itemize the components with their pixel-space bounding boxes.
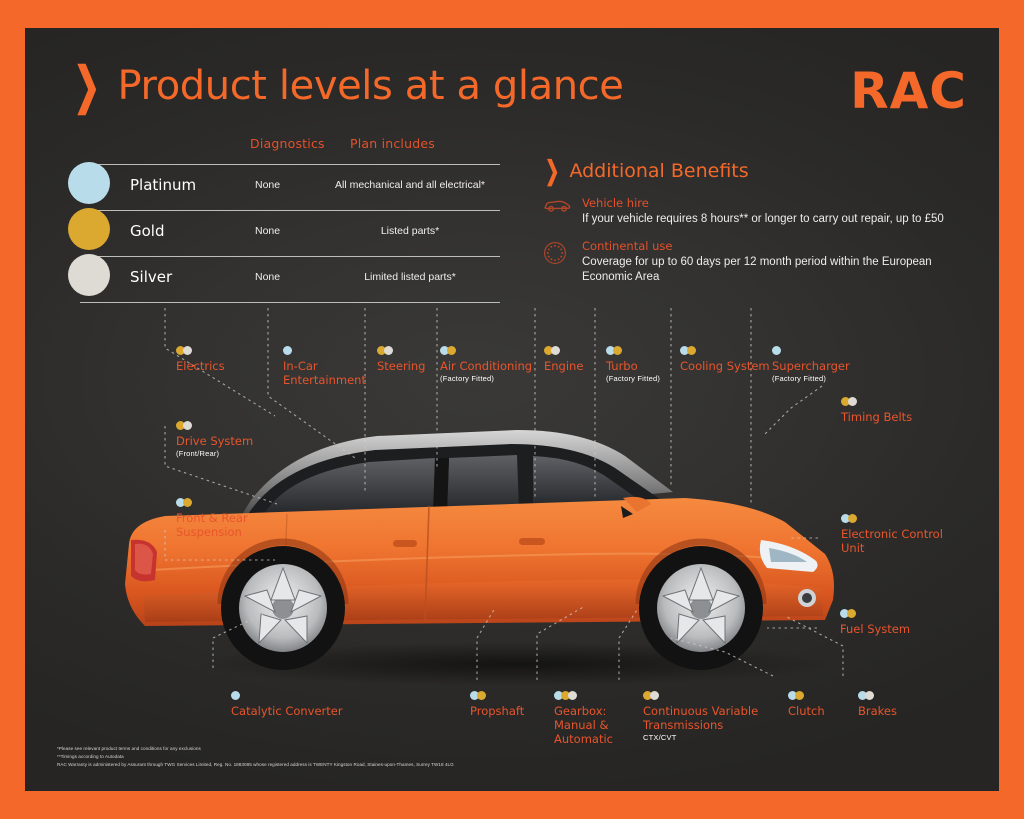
tier-name: Platinum	[130, 176, 196, 194]
callout-label: Cooling System	[680, 359, 770, 373]
benefit-title: Vehicle hire	[582, 196, 944, 210]
tier-pip-gold	[183, 498, 192, 507]
benefit-title: Continental use	[582, 239, 973, 253]
tier-pips	[840, 609, 910, 618]
column-header-diagnostics: Diagnostics	[250, 136, 325, 151]
callout-label: Brakes	[858, 704, 897, 718]
chevron-right-icon: ❯	[545, 158, 559, 184]
tier-pip-silver	[650, 691, 659, 700]
callout-propshaft[interactable]: Propshaft	[470, 691, 524, 718]
tier-pips	[176, 498, 248, 507]
tier-pips	[283, 346, 366, 355]
callout-front-rear-suspension[interactable]: Front & Rear Suspension	[176, 498, 248, 539]
tier-pip-silver	[568, 691, 577, 700]
benefit-description: If your vehicle requires 8 hours** or lo…	[582, 212, 944, 228]
tier-pips	[176, 346, 225, 355]
poster-frame: ❯ Product levels at a glance RAC Diagnos…	[0, 0, 1024, 819]
benefit-item-continental-use: Continental use Coverage for up to 60 da…	[543, 239, 973, 286]
rac-logo: RAC	[850, 66, 967, 116]
callout-label: Drive System	[176, 434, 253, 448]
tier-pips	[858, 691, 897, 700]
additional-benefits-section: ❯ Additional Benefits Vehicle hire If yo…	[543, 160, 973, 297]
callout-label: Continuous Variable Transmissions	[643, 704, 758, 732]
tier-pips	[841, 514, 943, 523]
tier-pips	[470, 691, 524, 700]
callout-label: Air Conditioning	[440, 359, 532, 373]
benefits-heading: ❯ Additional Benefits	[543, 160, 973, 182]
callout-label: Turbo	[606, 359, 660, 373]
tier-pip-platinum	[231, 691, 240, 700]
callout-steering[interactable]: Steering	[377, 346, 425, 373]
tier-pips	[544, 346, 583, 355]
tier-pips	[606, 346, 660, 355]
tier-pip-platinum	[772, 346, 781, 355]
tier-pip-silver	[865, 691, 874, 700]
callout-fuel-system[interactable]: Fuel System	[840, 609, 910, 636]
callout-label: Timing Belts	[841, 410, 912, 424]
callout-in-car-entertainment[interactable]: In-Car Entertainment	[283, 346, 366, 387]
callout-label: Supercharger	[772, 359, 850, 373]
tier-pips	[841, 397, 912, 406]
tier-pip-silver	[384, 346, 393, 355]
tier-swatch-gold	[68, 208, 110, 250]
tier-pips	[788, 691, 825, 700]
car-icon	[543, 196, 571, 228]
cell-plan-includes: Limited listed parts*	[320, 271, 500, 283]
cell-plan-includes: All mechanical and all electrical*	[320, 179, 500, 191]
tier-name: Gold	[130, 222, 165, 240]
table-body: PlatinumNoneAll mechanical and all elect…	[80, 164, 500, 302]
page-title: Product levels at a glance	[118, 66, 624, 106]
cell-diagnostics: None	[255, 271, 280, 283]
footer-fineprint: *Please see relevant product terms and c…	[57, 745, 957, 769]
tier-pip-silver	[848, 397, 857, 406]
callout-electronic-control-unit[interactable]: Electronic Control Unit	[841, 514, 943, 555]
table-row: PlatinumNoneAll mechanical and all elect…	[80, 164, 500, 210]
tier-pips	[231, 691, 343, 700]
callout-continuous-variable-transmissions[interactable]: Continuous Variable TransmissionsCTX/CVT	[643, 691, 758, 742]
tier-pip-silver	[183, 346, 192, 355]
tier-pips	[680, 346, 770, 355]
product-levels-table: Diagnostics Plan includes PlatinumNoneAl…	[80, 136, 500, 303]
tier-pips	[440, 346, 532, 355]
tier-pip-gold	[795, 691, 804, 700]
callout-sublabel: (Factory Fitted)	[772, 374, 850, 383]
callout-drive-system[interactable]: Drive System(Front/Rear)	[176, 421, 253, 458]
tier-pip-gold	[477, 691, 486, 700]
chevron-right-icon: ❯	[73, 61, 100, 111]
benefit-text-vehicle-hire: Vehicle hire If your vehicle requires 8 …	[582, 196, 944, 228]
footer-line: *Please see relevant product terms and c…	[57, 745, 957, 753]
column-header-plan-includes: Plan includes	[350, 136, 435, 151]
tier-pip-gold	[447, 346, 456, 355]
callout-timing-belts[interactable]: Timing Belts	[841, 397, 912, 424]
callout-air-conditioning[interactable]: Air Conditioning(Factory Fitted)	[440, 346, 532, 383]
tier-pip-platinum	[283, 346, 292, 355]
callout-label: Clutch	[788, 704, 825, 718]
tier-pips	[772, 346, 850, 355]
tier-pips	[643, 691, 758, 700]
benefits-heading-label: Additional Benefits	[569, 160, 748, 182]
callout-sublabel: CTX/CVT	[643, 733, 758, 742]
callout-supercharger[interactable]: Supercharger(Factory Fitted)	[772, 346, 850, 383]
table-row: GoldNoneListed parts*	[80, 210, 500, 256]
callout-label: Electrics	[176, 359, 225, 373]
table-header-row: Diagnostics Plan includes	[80, 136, 500, 164]
callout-catalytic-converter[interactable]: Catalytic Converter	[231, 691, 343, 718]
callout-cooling-system[interactable]: Cooling System	[680, 346, 770, 373]
eu-stars-icon	[543, 239, 571, 286]
callout-brakes[interactable]: Brakes	[858, 691, 897, 718]
benefit-item-vehicle-hire: Vehicle hire If your vehicle requires 8 …	[543, 196, 973, 228]
tier-pip-gold	[848, 514, 857, 523]
tier-swatch-platinum	[68, 162, 110, 204]
cell-diagnostics: None	[255, 179, 280, 191]
page-header: ❯ Product levels at a glance	[70, 66, 623, 106]
callout-turbo[interactable]: Turbo(Factory Fitted)	[606, 346, 660, 383]
tier-pips	[377, 346, 425, 355]
callout-label: Catalytic Converter	[231, 704, 343, 718]
callout-sublabel: (Factory Fitted)	[440, 374, 532, 383]
callout-label: Electronic Control Unit	[841, 527, 943, 555]
callout-clutch[interactable]: Clutch	[788, 691, 825, 718]
callout-label: Fuel System	[840, 622, 910, 636]
callout-label: Engine	[544, 359, 583, 373]
table-bottom-rule	[80, 302, 500, 303]
poster-panel: ❯ Product levels at a glance RAC Diagnos…	[25, 28, 999, 791]
footer-line: **Timings according to Autodata	[57, 753, 957, 761]
callout-label: In-Car Entertainment	[283, 359, 366, 387]
callout-gearbox-manual-automatic[interactable]: Gearbox: Manual & Automatic	[554, 691, 613, 746]
callout-engine[interactable]: Engine	[544, 346, 583, 373]
tier-pip-gold	[847, 609, 856, 618]
tier-pip-silver	[183, 421, 192, 430]
callout-label: Gearbox: Manual & Automatic	[554, 704, 613, 746]
callout-label: Propshaft	[470, 704, 524, 718]
tier-name: Silver	[130, 268, 172, 286]
tier-pips	[176, 421, 253, 430]
tier-pip-silver	[551, 346, 560, 355]
tier-pip-gold	[613, 346, 622, 355]
callout-sublabel: (Front/Rear)	[176, 449, 253, 458]
cell-diagnostics: None	[255, 225, 280, 237]
callout-label: Steering	[377, 359, 425, 373]
callout-electrics[interactable]: Electrics	[176, 346, 225, 373]
benefit-text-continental-use: Continental use Coverage for up to 60 da…	[582, 239, 973, 286]
footer-line: RAC Warranty is administered by Assurant…	[57, 761, 957, 769]
callout-sublabel: (Factory Fitted)	[606, 374, 660, 383]
benefit-description: Coverage for up to 60 days per 12 month …	[582, 255, 973, 286]
tier-pips	[554, 691, 613, 700]
callout-label: Front & Rear Suspension	[176, 511, 248, 539]
cell-plan-includes: Listed parts*	[320, 225, 500, 237]
tier-swatch-silver	[68, 254, 110, 296]
tier-pip-gold	[687, 346, 696, 355]
table-row: SilverNoneLimited listed parts*	[80, 256, 500, 302]
